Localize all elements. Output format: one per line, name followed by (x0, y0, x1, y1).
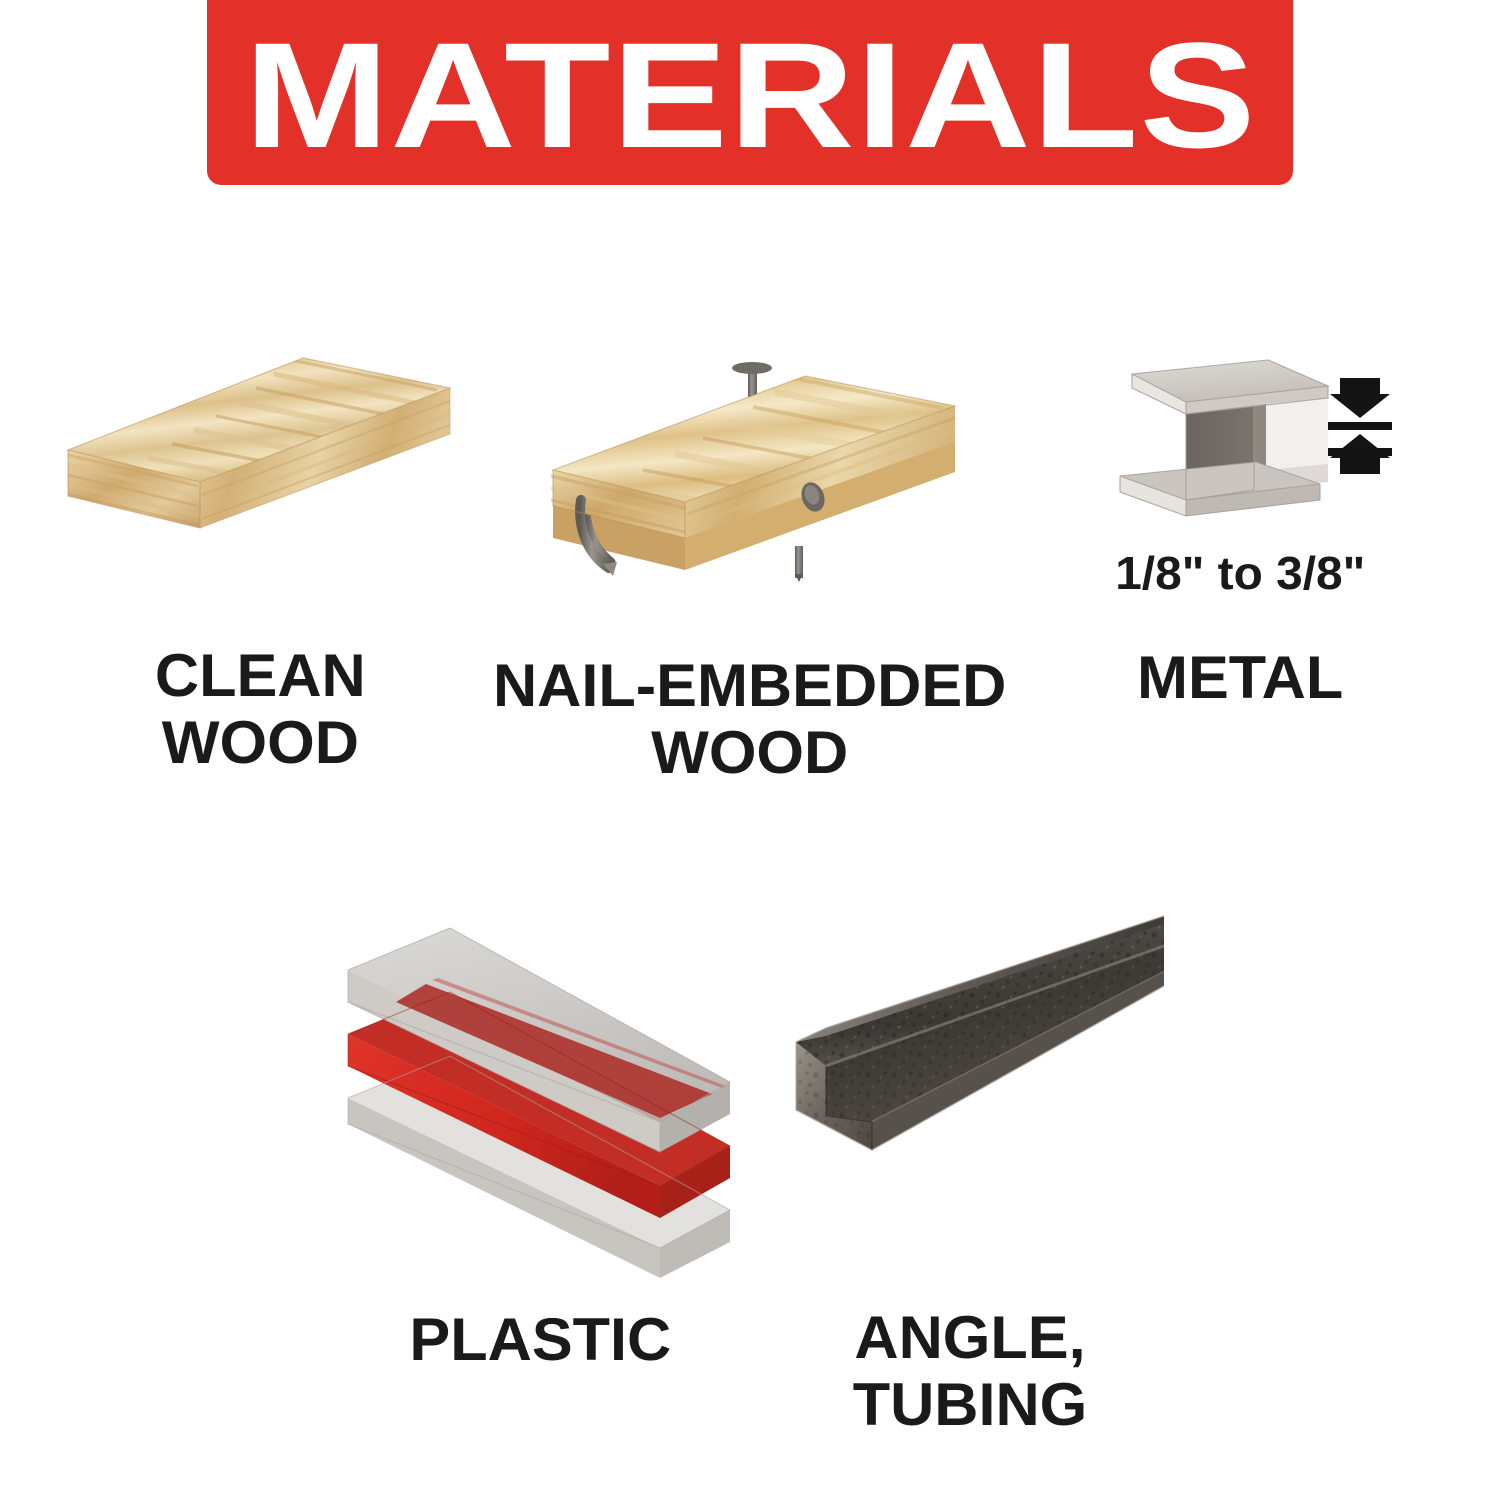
thickness-arrows-icon (1328, 378, 1392, 474)
nail-embedded-wood-icon (535, 350, 965, 580)
material-label-angle-tubing: ANGLE, TUBING (853, 1304, 1088, 1438)
material-item-plastic: PLASTIC (330, 910, 750, 1373)
i-beam-icon (1090, 350, 1390, 540)
material-label-clean-wood: CLEAN WOOD (155, 642, 366, 776)
material-item-clean-wood: CLEAN WOOD (60, 350, 460, 776)
wood-plank-icon (60, 350, 460, 560)
material-item-metal: 1/8" to 3/8" METAL (1060, 350, 1420, 711)
metal-thickness-note: 1/8" to 3/8" (1115, 550, 1365, 596)
material-item-angle-tubing: ANGLE, TUBING (760, 910, 1180, 1438)
materials-header-banner: MATERIALS (207, 0, 1293, 185)
material-label-nail-embedded-wood: NAIL-EMBEDDED WOOD (493, 652, 1006, 786)
material-label-plastic: PLASTIC (409, 1306, 671, 1373)
material-item-nail-embedded-wood: NAIL-EMBEDDED WOOD (470, 350, 1030, 786)
material-label-metal: METAL (1137, 644, 1343, 711)
plastic-sheets-icon (330, 910, 750, 1280)
page-title: MATERIALS (244, 20, 1256, 170)
angle-iron-icon (760, 910, 1180, 1280)
